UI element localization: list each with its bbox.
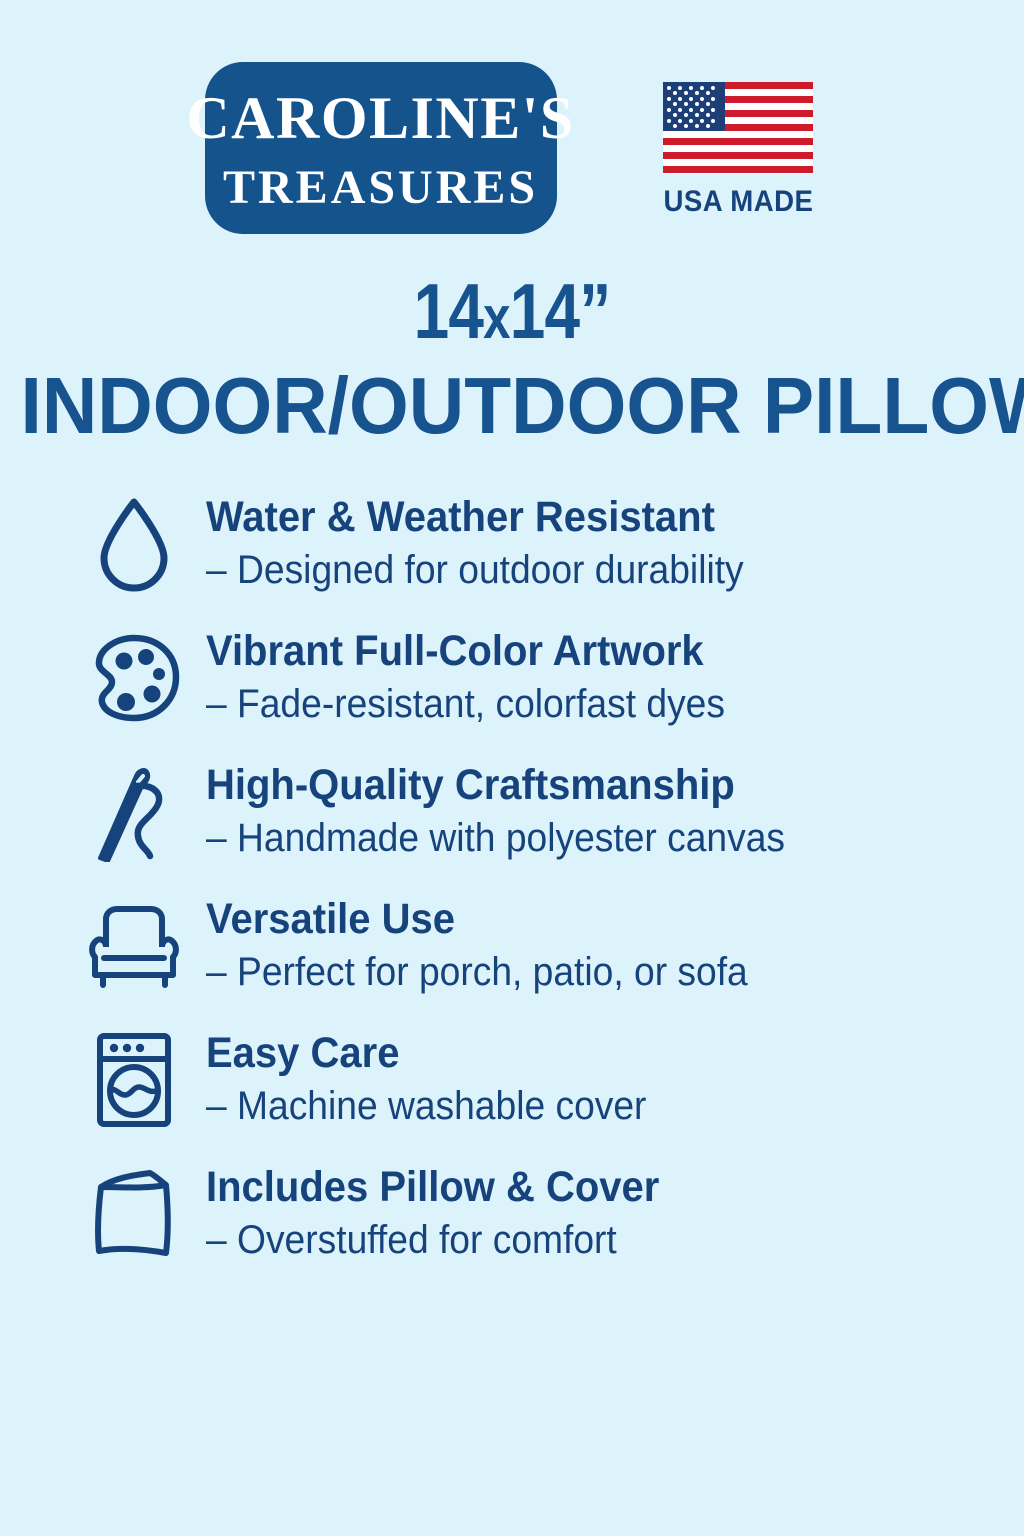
feature-subtitle: – Designed for outdoor durability — [206, 548, 744, 592]
feature-title: Versatile Use — [206, 898, 748, 942]
needle-and-thread-icon — [86, 760, 182, 864]
flag-canton — [663, 82, 725, 132]
feature-subtitle: – Fade-resistant, colorfast dyes — [206, 682, 725, 726]
feature-text: Vibrant Full-Color Artwork – Fade-resist… — [206, 626, 764, 726]
feature-subtitle: – Overstuffed for comfort — [206, 1218, 659, 1262]
header: CAROLINE'S TREASURES — [0, 0, 1024, 234]
feature-subtitle: – Handmade with polyester canvas — [206, 816, 785, 860]
feature-text: Includes Pillow & Cover – Overstuffed fo… — [206, 1162, 693, 1262]
product-size-title: 14x14” — [92, 272, 932, 350]
feature-text: Water & Weather Resistant – Designed for… — [206, 492, 784, 592]
pillow-icon — [86, 1162, 182, 1266]
brand-name-line2: TREASURES — [223, 164, 538, 212]
feature-title: Easy Care — [206, 1032, 646, 1076]
feature-text: Versatile Use – Perfect for porch, patio… — [206, 894, 789, 994]
water-drop-icon — [86, 492, 182, 596]
feature-list: Water & Weather Resistant – Designed for… — [0, 492, 1024, 1266]
feature-row: Versatile Use – Perfect for porch, patio… — [86, 894, 1024, 998]
feature-title: Vibrant Full-Color Artwork — [206, 630, 725, 674]
feature-row: Easy Care – Machine washable cover — [86, 1028, 1024, 1132]
feature-row: Water & Weather Resistant – Designed for… — [86, 492, 1024, 596]
size-separator: x — [483, 284, 510, 351]
size-prefix: 14 — [414, 267, 484, 355]
size-suffix: 14” — [510, 267, 611, 355]
feature-title: Includes Pillow & Cover — [206, 1166, 659, 1210]
feature-title: High-Quality Craftsmanship — [206, 764, 785, 808]
feature-row: High-Quality Craftsmanship – Handmade wi… — [86, 760, 1024, 864]
feature-subtitle: – Machine washable cover — [206, 1084, 646, 1128]
feature-text: Easy Care – Machine washable cover — [206, 1028, 680, 1128]
washing-machine-icon — [86, 1028, 182, 1132]
armchair-icon — [86, 894, 182, 998]
usa-made-block: USA MADE — [657, 82, 820, 219]
paint-palette-icon — [86, 626, 182, 730]
feature-title: Water & Weather Resistant — [206, 496, 744, 540]
brand-logo-badge: CAROLINE'S TREASURES — [205, 62, 557, 234]
feature-text: High-Quality Craftsmanship – Handmade wi… — [206, 760, 829, 860]
feature-row: Vibrant Full-Color Artwork – Fade-resist… — [86, 626, 1024, 730]
feature-subtitle: – Perfect for porch, patio, or sofa — [206, 950, 748, 994]
feature-row: Includes Pillow & Cover – Overstuffed fo… — [86, 1162, 1024, 1266]
page-title: INDOOR/OUTDOOR PILLOW — [20, 366, 1003, 446]
usa-flag-icon — [663, 82, 813, 174]
usa-made-label: USA MADE — [663, 185, 813, 219]
brand-name-line1: CAROLINE'S — [186, 88, 574, 148]
